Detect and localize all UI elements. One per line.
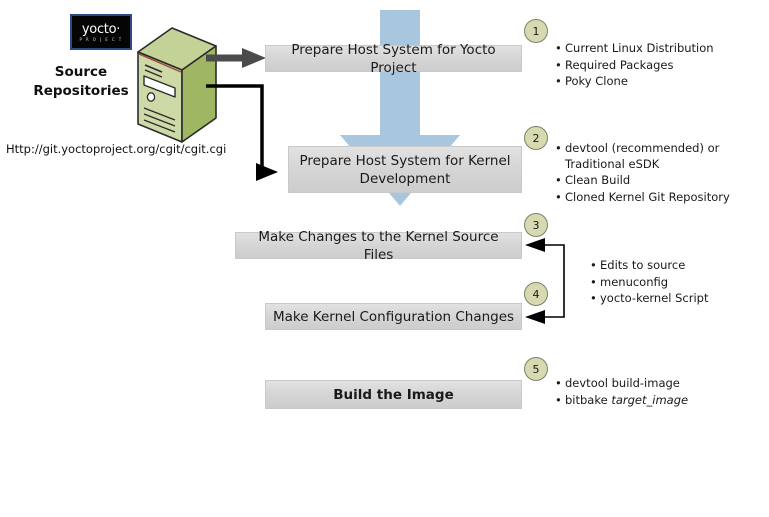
yocto-logo-wordmark: yocto· xyxy=(82,23,120,36)
bullets-step2: devtool (recommended) or Traditional eSD… xyxy=(553,141,725,206)
bullets-step1: Current Linux Distribution Required Pack… xyxy=(553,41,714,91)
bullet-item: Current Linux Distribution xyxy=(565,41,714,57)
bullet-item: Cloned Kernel Git Repository xyxy=(565,190,725,206)
bullets-step5: devtool build-image bitbake target_image xyxy=(553,376,688,409)
bullet-item: bitbake target_image xyxy=(565,393,688,409)
bullet-item: devtool build-image xyxy=(565,376,688,392)
source-repositories-label: Source Repositories xyxy=(16,63,146,101)
bullet-item: yocto-kernel Script xyxy=(600,291,709,307)
process-box-step5[interactable]: Build the Image xyxy=(265,380,522,409)
bullet-text-italic: target_image xyxy=(611,393,688,407)
yocto-kernel-workflow-diagram: yocto· P R O J E C T Source Repositories… xyxy=(0,0,769,517)
step-number-4: 4 xyxy=(524,282,548,306)
yocto-logo-subtext: P R O J E C T xyxy=(79,38,122,42)
bullet-item: Poky Clone xyxy=(565,74,714,90)
step-number-2: 2 xyxy=(524,126,548,150)
bullet-item: Required Packages xyxy=(565,58,714,74)
source-label-line1: Source xyxy=(16,63,146,82)
step-number-1: 1 xyxy=(524,19,548,43)
process-box-step2[interactable]: Prepare Host System for Kernel Developme… xyxy=(288,146,522,193)
process-box-step3[interactable]: Make Changes to the Kernel Source Files xyxy=(235,232,522,259)
yocto-project-logo: yocto· P R O J E C T xyxy=(70,14,132,50)
bullet-item: menuconfig xyxy=(600,275,709,291)
source-repository-url: Http://git.yoctoproject.org/cgit/cgit.cg… xyxy=(6,142,226,156)
bracket-step3-step4 xyxy=(525,238,564,324)
server-tower-icon xyxy=(134,24,220,146)
bullet-item: devtool (recommended) or Traditional eSD… xyxy=(565,141,725,172)
bullet-text-prefix: bitbake xyxy=(565,393,611,407)
process-box-step4[interactable]: Make Kernel Configuration Changes xyxy=(265,303,522,330)
source-label-line2: Repositories xyxy=(16,82,146,101)
bullet-item: Edits to source xyxy=(600,258,709,274)
process-box-step1[interactable]: Prepare Host System for Yocto Project xyxy=(265,45,522,72)
step-number-5: 5 xyxy=(524,357,548,381)
bullet-item: Clean Build xyxy=(565,173,725,189)
bullets-step3-step4-shared: Edits to source menuconfig yocto-kernel … xyxy=(588,258,709,308)
step-number-3: 3 xyxy=(524,213,548,237)
